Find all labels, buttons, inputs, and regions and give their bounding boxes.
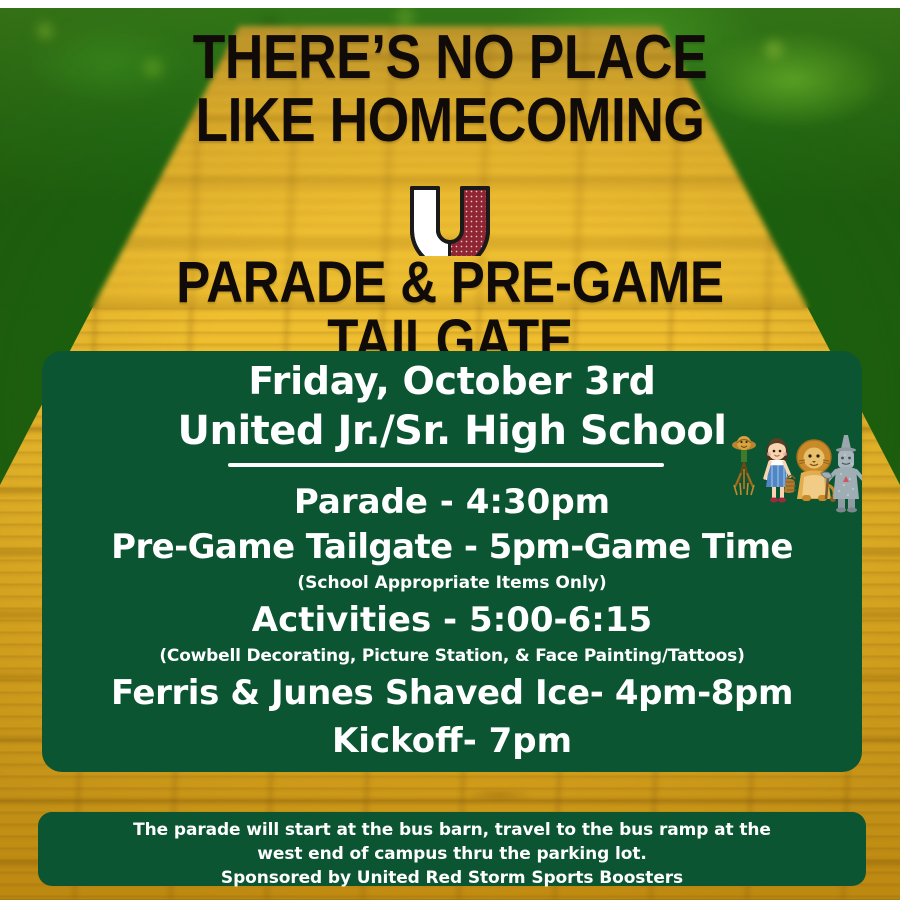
schedule-item-tailgate: Pre-Game Tailgate - 5pm-Game Time <box>42 527 862 567</box>
wizard-of-oz-characters-icon <box>722 429 862 529</box>
cowardly-lion-figure <box>797 440 836 502</box>
headline-line-2: LIKE HOMECOMING <box>63 89 837 152</box>
dorothy-figure <box>765 438 796 503</box>
schedule-item-shaved-ice: Ferris & Junes Shaved Ice- 4pm-8pm <box>42 673 862 713</box>
schedule-note-tailgate: (School Appropriate Items Only) <box>42 573 862 593</box>
headline: THERE’S NO PLACE LIKE HOMECOMING <box>63 26 837 152</box>
footer-bar: The parade will start at the bus barn, t… <box>38 812 866 886</box>
top-white-margin <box>0 0 900 8</box>
homecoming-flyer: THERE’S NO PLACE LIKE HOMECOMING <box>0 0 900 900</box>
footer-line-3: Sponsored by United Red Storm Sports Boo… <box>38 866 866 890</box>
united-u-logo <box>404 184 496 256</box>
divider <box>228 463 664 467</box>
footer-line-1: The parade will start at the bus barn, t… <box>38 818 866 842</box>
headline-line-1: THERE’S NO PLACE <box>63 26 837 89</box>
schedule-note-activities: (Cowbell Decorating, Picture Station, & … <box>42 646 862 666</box>
details-panel: Friday, October 3rd United Jr./Sr. High … <box>42 351 862 772</box>
footer-line-2: west end of campus thru the parking lot. <box>38 842 866 866</box>
scarecrow-figure <box>732 436 756 495</box>
schedule-item-kickoff: Kickoff- 7pm <box>42 721 862 761</box>
event-date: Friday, October 3rd <box>42 359 862 403</box>
schedule-item-activities: Activities - 5:00-6:15 <box>42 600 862 640</box>
